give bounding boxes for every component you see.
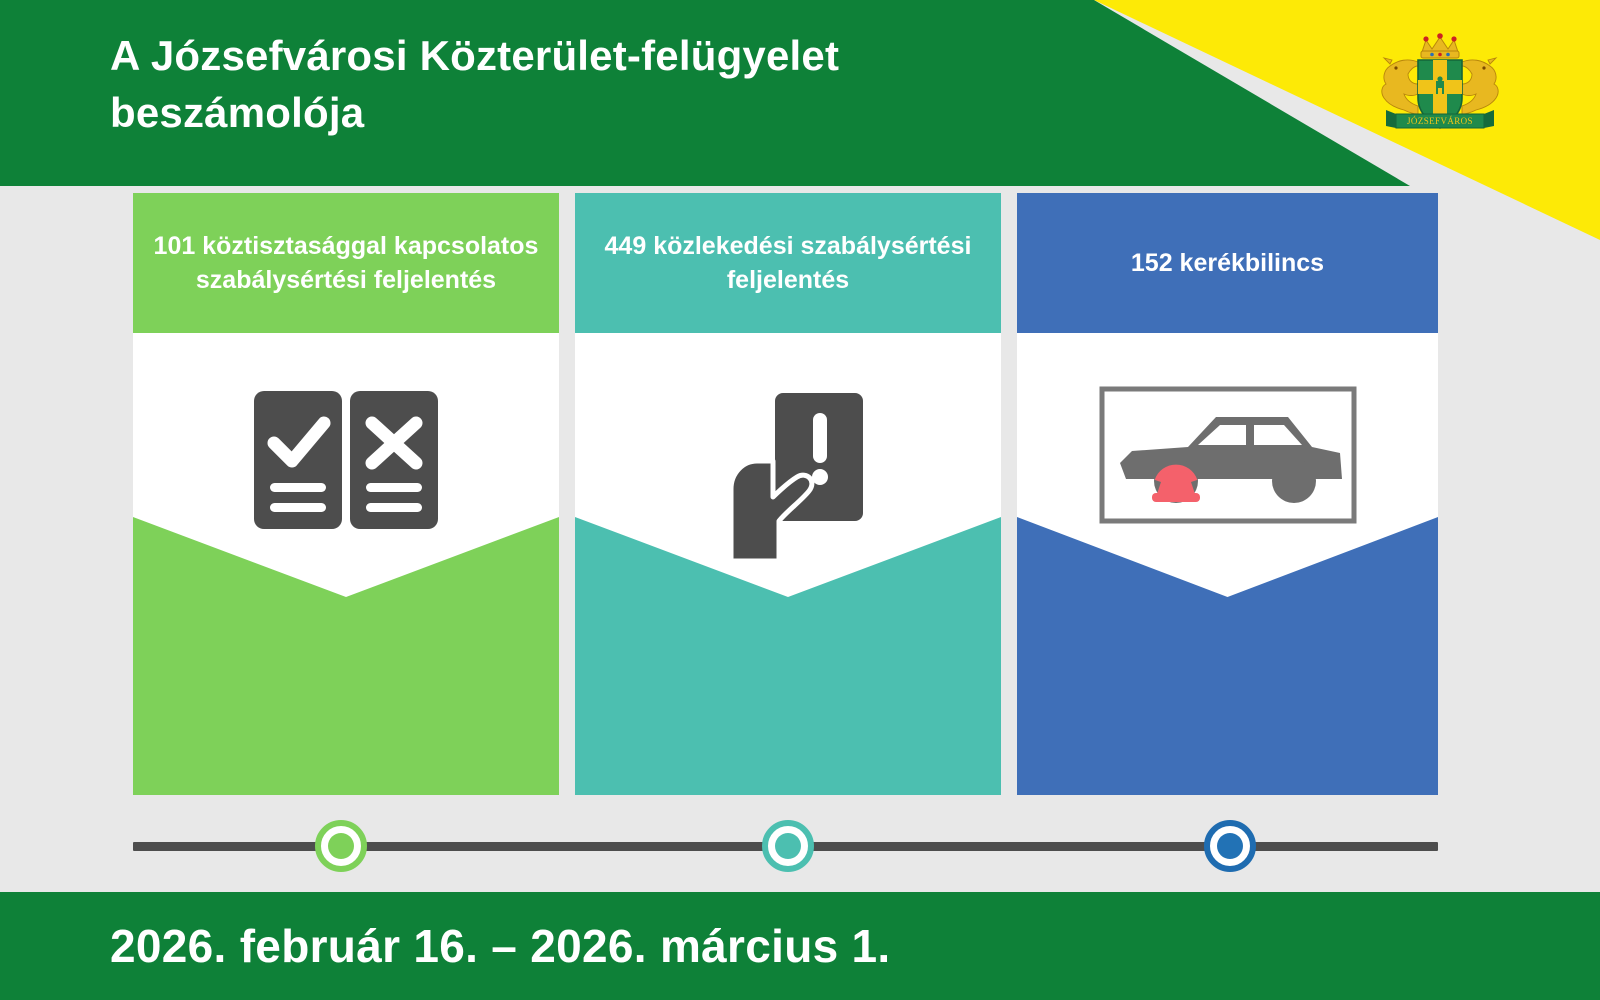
page-title-line-1: A Józsefvárosi Közterület-felügyelet bbox=[110, 28, 1090, 85]
stat-card-label: 101 köztisztasággal kapcsolatos szabálys… bbox=[133, 193, 559, 333]
stat-card-kozttisztasag[interactable]: 101 köztisztasággal kapcsolatos szabálys… bbox=[133, 193, 559, 795]
stat-card-body bbox=[1017, 333, 1438, 795]
timeline-marker-core bbox=[775, 833, 801, 859]
jozsefvaros-coat-of-arms-icon: JÓZSEFVÁROS bbox=[1360, 22, 1520, 142]
timeline-marker-1[interactable] bbox=[315, 820, 367, 872]
timeline-marker-core bbox=[328, 833, 354, 859]
stat-card-body bbox=[575, 333, 1001, 795]
hand-holding-warning-card-icon bbox=[575, 385, 1001, 565]
timeline bbox=[0, 795, 1600, 893]
page-title-line-2: beszámolója bbox=[110, 85, 1090, 142]
stat-card-kerekbilincs[interactable]: 152 kerékbilincs bbox=[1017, 193, 1438, 795]
check-and-cross-documents-icon bbox=[133, 385, 559, 535]
stat-card-chevron-panel bbox=[1017, 517, 1438, 795]
date-range-label: 2026. február 16. – 2026. március 1. bbox=[110, 892, 891, 1000]
timeline-marker-core bbox=[1217, 833, 1243, 859]
statistics-card-group: 101 köztisztasággal kapcsolatos szabálys… bbox=[0, 193, 1600, 795]
timeline-marker-2[interactable] bbox=[762, 820, 814, 872]
stat-card-label: 449 közlekedési szabálysértési feljelent… bbox=[575, 193, 1001, 333]
timeline-marker-3[interactable] bbox=[1204, 820, 1256, 872]
stat-card-body bbox=[133, 333, 559, 795]
stat-card-label: 152 kerékbilincs bbox=[1017, 193, 1438, 333]
stat-card-chevron-panel bbox=[133, 517, 559, 795]
stat-card-kozlekedes[interactable]: 449 közlekedési szabálysértési feljelent… bbox=[575, 193, 1001, 795]
page-title: A Józsefvárosi Közterület-felügyelet bes… bbox=[110, 28, 1090, 141]
infographic-canvas: A Józsefvárosi Közterület-felügyelet bes… bbox=[0, 0, 1600, 1000]
clamped-car-icon bbox=[1017, 385, 1438, 525]
crest-banner-label: JÓZSEFVÁROS bbox=[1407, 116, 1473, 126]
